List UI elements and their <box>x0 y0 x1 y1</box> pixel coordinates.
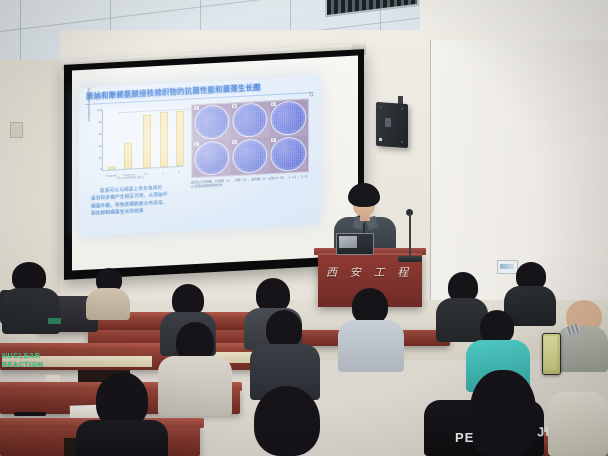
petri-panel-tag: d <box>194 142 199 146</box>
petri-dish-cell: e <box>231 138 269 175</box>
audience-head <box>256 278 290 312</box>
jacket-print-line: NUCLEAR <box>2 352 58 361</box>
chart-x-axis-label: PLL modified (g/L) <box>117 175 144 180</box>
chart-ytick-0: 0 <box>93 167 102 171</box>
petri-dish-cell: f <box>270 136 308 173</box>
petri-dish-cell: c <box>270 100 308 137</box>
chart-bar <box>160 112 168 167</box>
petri-panel-tag: a <box>194 106 199 110</box>
speaker-led <box>379 138 382 141</box>
petri-dish <box>232 138 267 174</box>
audience-head <box>254 386 320 456</box>
presenter-fringe <box>349 192 379 203</box>
audience-torso <box>76 420 168 456</box>
petri-dish <box>194 104 229 140</box>
audience-head <box>480 310 514 344</box>
chart-bar <box>108 167 116 170</box>
podium-inscription: 西 安 工 程 <box>326 264 416 282</box>
petri-panel-tag: b <box>232 104 237 108</box>
microphone-base <box>398 256 422 262</box>
petri-dish <box>232 102 267 138</box>
air-vent-grille <box>325 0 419 17</box>
audience-torso <box>158 356 232 416</box>
wall-sign <box>497 260 518 274</box>
jacket-logo-patch <box>48 318 61 324</box>
audience-torso <box>548 392 608 456</box>
laptop-screen-glow <box>339 236 357 248</box>
chart-xtick-1: 1 <box>157 171 169 176</box>
slide-body-text: 氨基可以与细菌上带负电荷的 蛋白和多糖产生相互作用，从而破坏 细菌外膜，导致其细… <box>91 183 187 218</box>
chart-bar <box>143 115 151 168</box>
desk-pen <box>14 412 46 416</box>
petri-panel-tag: c <box>271 102 276 106</box>
chart-plot-top-border <box>118 108 198 113</box>
petri-dish-cell: d <box>193 140 231 177</box>
jacket-print-line: REACTION <box>2 361 58 370</box>
lecture-hall-photo: 原纳和聚赖氨酸接枝棉织物的抗菌性能和菌落生长图 11 Antibacterial… <box>0 0 608 456</box>
audience-torso <box>556 326 608 372</box>
petri-panel-tag: f <box>271 138 276 142</box>
audience-head <box>266 310 302 348</box>
audience-torso <box>2 288 60 334</box>
presenter-laptop[interactable] <box>334 233 376 255</box>
petri-dish <box>271 100 306 136</box>
jacket-print-text: NUCLEAR REACTION <box>2 352 58 370</box>
petri-panel-tag: e <box>232 140 237 144</box>
chart-xtick-2: 2 <box>173 170 185 175</box>
projected-slide: 原纳和聚赖氨酸接枝棉织物的抗菌性能和菌落生长图 11 Antibacterial… <box>79 76 319 237</box>
audience-torso <box>86 288 130 320</box>
chart-bar <box>124 143 132 169</box>
wall-corner-seam <box>430 40 431 330</box>
chart-plot-area: 100 80 60 40 20 0 Original Oxidised 0.5 <box>102 106 183 171</box>
petri-dish-cell: a <box>193 104 231 141</box>
audience-head <box>470 370 536 456</box>
petri-dish-cell: b <box>231 102 269 139</box>
phone-screen <box>544 336 557 370</box>
chart-y-axis-label: Antibacterial activity (%) <box>87 88 91 122</box>
chart-bar <box>176 111 184 166</box>
audience-torso <box>338 320 404 372</box>
wall-switch-panel[interactable] <box>10 122 23 138</box>
petri-dish <box>194 140 229 176</box>
hoodie-print-text: PE <box>455 430 474 445</box>
audience-head <box>352 288 388 324</box>
speaker-cone <box>385 118 391 127</box>
antibacterial-bar-chart: Antibacterial activity (%) 100 80 60 40 … <box>87 103 187 186</box>
microphone-stand <box>409 214 411 258</box>
colony-growth-figure: a b c d e f <box>191 98 309 178</box>
slide-page-number: 11 <box>309 92 314 98</box>
petri-dish <box>271 136 306 172</box>
wall-speaker-icon <box>376 102 408 148</box>
